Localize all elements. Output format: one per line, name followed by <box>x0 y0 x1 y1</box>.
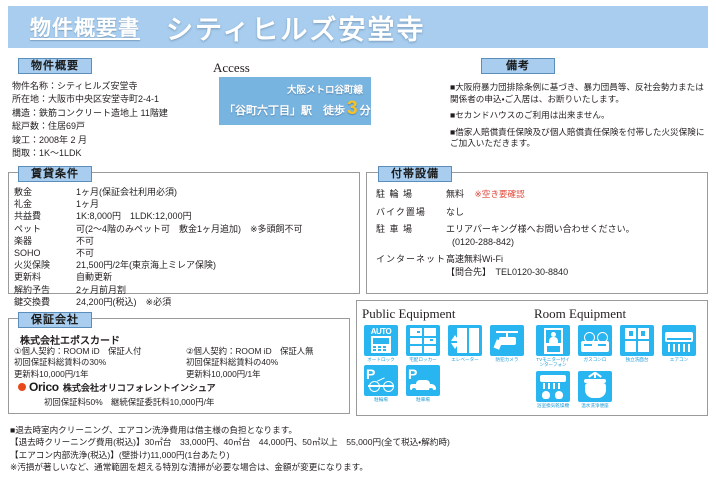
facility-value: 高速無料Wi-Fi 【問合先】 TEL0120-30-8840 <box>446 253 635 283</box>
car-parking-icon: P <box>406 365 440 396</box>
access-minutes-unit: 分 <box>360 102 371 118</box>
remarks-item: ■借家人賠償責任保険及び個人賠償責任保険を付帯した火災保険にご加入いただきます。 <box>450 127 712 150</box>
auto-lock-icon: AUTO <box>364 325 398 356</box>
guarantee-plan: ②個人契約：ROOM iD 保証人無 初回保証料総賃料の40% 更新料10,00… <box>186 346 344 380</box>
guarantee-plan-title: ①個人契約：ROOM iD 保証人付 <box>14 346 172 357</box>
equipment-item: 温水洗浄便座 <box>576 371 614 408</box>
equipment-item: 防犯カメラ <box>488 325 526 362</box>
orico-logo-icon <box>18 383 26 391</box>
facility-value-text: エリアパーキング様へお問い合わせください。 <box>446 223 635 236</box>
document-type-label: 物件概要書 <box>30 12 140 42</box>
access-box: 大阪メトロ谷町線 「谷町六丁目」駅 徒歩 3 分 <box>219 77 371 125</box>
equipment-label: エアコン <box>660 357 698 362</box>
equipment-item: AUTO オートロック <box>362 325 400 362</box>
equipment-label: ガスコンロ <box>576 357 614 362</box>
equipment-label: TVモニター付インターフォン <box>534 357 572 368</box>
overview-row: 間取：1K～1LDK <box>12 147 208 160</box>
gas-stove-icon <box>578 325 612 356</box>
remarks-section-tab: 備考 <box>481 58 555 74</box>
orico-fee-detail: 初回保証料50% 継続保証委託料10,000円/年 <box>44 396 214 408</box>
term-value: 21,500円/2年(東京海上ミレア保険) <box>76 259 303 271</box>
access-minutes: 3 <box>347 99 358 118</box>
note-line: 【エアコン内部洗浄(税込)】(壁掛け)11,000円(1台あたり) <box>10 449 710 461</box>
facilities-section-tab: 付帯設備 <box>378 166 452 182</box>
rental-terms-section-tab: 賃貸条件 <box>18 166 92 182</box>
note-line: 【退去時クリーニング費用(税込)】30㎡台 33,000円、40㎡台 44,00… <box>10 436 710 448</box>
room-equipment-title: Room Equipment <box>534 306 710 322</box>
washbasin-icon <box>620 325 654 356</box>
overview-row: 竣工：2008年 2 月 <box>12 134 208 147</box>
guarantee-plan-initial-fee: 初回保証料総賃料の40% <box>186 357 344 368</box>
note-line: ■退去時室内クリーニング、エアコン洗浄費用は借主様の負担となります。 <box>10 424 710 436</box>
term-key: 更新料 <box>14 271 76 283</box>
table-row: 鍵交換費 24,200円(税込) ※必須 <box>14 296 303 308</box>
equipment-label: 駐輪場 <box>362 397 400 402</box>
overview-section-tab: 物件概要 <box>18 58 92 74</box>
term-value: 2ヶ月前月割 <box>76 284 303 296</box>
air-conditioner-icon <box>662 325 696 356</box>
equipment-label: 宅配ロッカー <box>404 357 442 362</box>
remarks-list: ■大阪府暴力団排除条例に基づき、暴力団員等、反社会勢力または関係者の申込・ご入居… <box>450 82 712 150</box>
table-row: インターネット 高速無料Wi-Fi 【問合先】 TEL0120-30-8840 <box>376 253 635 283</box>
equipment-item: ガスコンロ <box>576 325 614 368</box>
orico-row: Orico 株式会社オリコフォレントインシュア <box>18 380 216 394</box>
table-row: 火災保険 21,500円/2年(東京海上ミレア保険) <box>14 259 303 271</box>
note-line: ※汚損が著しいなど、通常範囲を超える特別な清掃が必要な場合は、金額が変更になりま… <box>10 461 710 473</box>
term-key: 鍵交換費 <box>14 296 76 308</box>
overview-row: 所在地：大阪市中央区安堂寺町2-4-1 <box>12 93 208 106</box>
guarantee-plan-renewal-fee: 更新料10,000円/1年 <box>186 369 344 380</box>
security-camera-icon <box>490 325 524 356</box>
term-key: 楽器 <box>14 235 76 247</box>
facility-value-text: 無料 <box>446 189 464 199</box>
public-equipment-grid: AUTO オートロック <box>362 325 526 403</box>
term-key: 礼金 <box>14 198 76 210</box>
facility-key: インターネット <box>376 253 446 283</box>
access-station: 「谷町六丁目」駅 徒歩 <box>224 102 345 118</box>
equipment-label: オートロック <box>362 357 400 362</box>
term-key: 共益費 <box>14 210 76 222</box>
guarantee-plan-renewal-fee: 更新料10,000円/1年 <box>14 369 172 380</box>
term-value: 不可 <box>76 235 303 247</box>
term-value: 24,200円(税込) ※必須 <box>76 296 303 308</box>
orico-company-name: 株式会社オリコフォレントインシュア <box>63 381 216 394</box>
table-row: ペット 可(2～4階のみペット可 敷金1ヶ月追加) ※多頭飼不可 <box>14 223 303 235</box>
facilities-table: 駐 輪 場 無料 ※空き要確認 バイク置場 なし 駐 車 場 エリアパーキング様… <box>376 188 635 284</box>
table-row: 駐 車 場 エリアパーキング様へお問い合わせください。 (0120-288-84… <box>376 223 635 253</box>
bottom-notes: ■退去時室内クリーニング、エアコン洗浄費用は借主様の負担となります。 【退去時ク… <box>10 424 710 474</box>
equipment-item: 浴室換気乾燥機 <box>534 371 572 408</box>
guarantee-plan-columns: ①個人契約：ROOM iD 保証人付 初回保証料総賃料の30% 更新料10,00… <box>14 346 344 380</box>
equipment-item: エレベーター <box>446 325 484 362</box>
elevator-icon <box>448 325 482 356</box>
term-value: 1ヶ月(保証会社利用必須) <box>76 186 303 198</box>
term-value: 1ヶ月 <box>76 198 303 210</box>
facility-key: 駐 輪 場 <box>376 188 446 206</box>
table-row: 駐 輪 場 無料 ※空き要確認 <box>376 188 635 206</box>
facility-contact: 【問合先】 TEL0120-30-8840 <box>446 266 635 279</box>
equipment-label: 浴室換気乾燥機 <box>534 403 572 408</box>
table-row: 礼金 1ヶ月 <box>14 198 303 210</box>
facility-value: 無料 ※空き要確認 <box>446 188 635 206</box>
term-key: 解約予告 <box>14 284 76 296</box>
table-row: 敷金 1ヶ月(保証会社利用必須) <box>14 186 303 198</box>
public-equipment-title: Public Equipment <box>362 306 526 322</box>
table-row: 解約予告 2ヶ月前月割 <box>14 284 303 296</box>
overview-row: 物件名称：シティヒルズ安堂寺 <box>12 80 208 93</box>
facility-value: エリアパーキング様へお問い合わせください。 (0120-288-842) <box>446 223 635 253</box>
access-walk-time: 「谷町六丁目」駅 徒歩 3 分 <box>224 99 371 118</box>
document-title-bar: 物件概要書 シティヒルズ安堂寺 <box>8 6 708 48</box>
delivery-locker-icon <box>406 325 440 356</box>
guarantee-plan-initial-fee: 初回保証料総賃料の30% <box>14 357 172 368</box>
term-value: 1K:8,000円 1LDK:12,000円 <box>76 210 303 222</box>
overview-list: 物件名称：シティヒルズ安堂寺 所在地：大阪市中央区安堂寺町2-4-1 構造：鉄筋… <box>12 80 208 160</box>
equipment-label: 駐車場 <box>404 397 442 402</box>
room-equipment-grid: TVモニター付インターフォン ガスコンロ <box>534 325 710 408</box>
property-name-title: シティヒルズ安堂寺 <box>166 8 425 47</box>
equipment-label: エレベーター <box>446 357 484 362</box>
table-row: 楽器 不可 <box>14 235 303 247</box>
overview-row: 構造：鉄筋コンクリート造地上 11階建 <box>12 107 208 120</box>
tv-intercom-icon <box>536 325 570 356</box>
table-row: バイク置場 なし <box>376 206 635 224</box>
facility-value-text: 高速無料Wi-Fi <box>446 253 635 266</box>
term-key: ペット <box>14 223 76 235</box>
table-row: 共益費 1K:8,000円 1LDK:12,000円 <box>14 210 303 222</box>
term-key: 火災保険 <box>14 259 76 271</box>
remarks-item: ■セカンドハウスのご利用は出来ません。 <box>450 110 712 122</box>
table-row: SOHO 不可 <box>14 247 303 259</box>
equipment-item: P 駐輪場 <box>362 365 400 402</box>
term-key: SOHO <box>14 247 76 259</box>
equipment-item: 独立洗面台 <box>618 325 656 368</box>
equipment-label: 防犯カメラ <box>488 357 526 362</box>
overview-row: 総戸数：住居69戸 <box>12 120 208 133</box>
equipment-item: エアコン <box>660 325 698 368</box>
remarks-item: ■大阪府暴力団排除条例に基づき、暴力団員等、反社会勢力または関係者の申込・ご入居… <box>450 82 712 105</box>
term-value: 可(2～4階のみペット可 敷金1ヶ月追加) ※多頭飼不可 <box>76 223 303 235</box>
guarantee-company-name: 株式会社エポスカード <box>20 332 120 347</box>
guarantee-plan-title: ②個人契約：ROOM iD 保証人無 <box>186 346 344 357</box>
bath-dryer-icon <box>536 371 570 402</box>
facility-key: 駐 車 場 <box>376 223 446 253</box>
washlet-icon <box>578 371 612 402</box>
facility-value: なし <box>446 206 635 224</box>
bicycle-parking-icon: P <box>364 365 398 396</box>
property-summary-document: 物件概要書 シティヒルズ安堂寺 物件概要 物件名称：シティヒルズ安堂寺 所在地：… <box>0 0 716 480</box>
facility-key: バイク置場 <box>376 206 446 224</box>
access-label: Access <box>213 60 250 76</box>
term-value: 不可 <box>76 247 303 259</box>
access-train-line: 大阪メトロ谷町線 <box>287 82 363 96</box>
room-equipment-group: Room Equipment TVモニター付インターフォン <box>534 306 710 408</box>
public-equipment-group: Public Equipment AUTO オートロック <box>362 306 526 403</box>
equipment-item: P 駐車場 <box>404 365 442 402</box>
facility-alert-note: ※空き要確認 <box>475 189 525 199</box>
guarantee-company-section-tab: 保証会社 <box>18 312 92 328</box>
facility-phone: (0120-288-842) <box>446 236 635 249</box>
term-value: 自動更新 <box>76 271 303 283</box>
equipment-label: 温水洗浄便座 <box>576 403 614 408</box>
equipment-item: 宅配ロッカー <box>404 325 442 362</box>
term-key: 敷金 <box>14 186 76 198</box>
table-row: 更新料 自動更新 <box>14 271 303 283</box>
equipment-label: 独立洗面台 <box>618 357 656 362</box>
guarantee-plan: ①個人契約：ROOM iD 保証人付 初回保証料総賃料の30% 更新料10,00… <box>14 346 172 380</box>
orico-brand: Orico <box>29 380 59 394</box>
equipment-item: TVモニター付インターフォン <box>534 325 572 368</box>
rental-terms-table: 敷金 1ヶ月(保証会社利用必須) 礼金 1ヶ月 共益費 1K:8,000円 1L… <box>14 186 303 308</box>
